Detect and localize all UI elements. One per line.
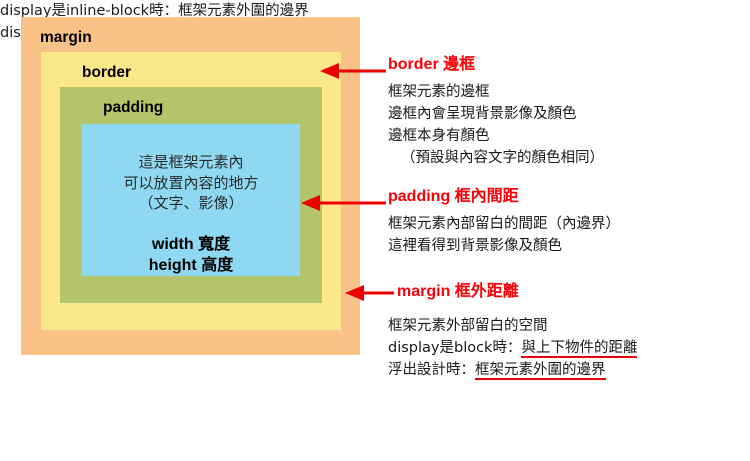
annotation-margin-line-2-underline: 與上下物件的距離 xyxy=(521,340,637,358)
annotation-border-line-4: （預設與內容文字的顏色相同） xyxy=(388,147,604,169)
annotation-margin: margin 框外距離 框架元素外部留白的空間 display是block時：與… xyxy=(397,283,637,381)
annotation-margin-line-1: 框架元素外部留白的空間 xyxy=(388,315,637,337)
annotation-border: border 邊框 框架元素的邊框 邊框內會呈現背景影像及顏色 邊框本身有顏色 … xyxy=(388,56,604,169)
content-width-label: width 寬度 xyxy=(82,234,300,255)
annotation-margin-line-2-prefix: display是block時： xyxy=(388,340,521,356)
content-layer: 這是框架元素內 可以放置內容的地方 （文字、影像） width 寬度 heigh… xyxy=(82,124,300,276)
annotation-padding-line-1: 框架元素內部留白的間距（內邊界） xyxy=(388,213,620,235)
box-model-diagram: margin border padding 這是框架元素內 可以放置內容的地方 … xyxy=(21,17,360,355)
arrow-left-icon-padding xyxy=(297,192,386,214)
border-label: border xyxy=(82,65,131,81)
arrow-left-icon-margin xyxy=(341,282,394,304)
annotation-padding-heading: padding 框內間距 xyxy=(388,188,620,206)
content-dimensions-text: width 寬度 height 高度 xyxy=(82,234,300,277)
annotation-border-line-3: 邊框本身有顏色 xyxy=(388,125,604,147)
annotation-padding-line-2: 這裡看得到背景影像及顏色 xyxy=(388,235,620,257)
annotation-border-heading: border 邊框 xyxy=(388,56,604,74)
content-line-3: （文字、影像） xyxy=(82,193,300,214)
annotation-border-line-2: 邊框內會呈現背景影像及顏色 xyxy=(388,103,604,125)
annotation-padding-body: 框架元素內部留白的間距（內邊界） 這裡看得到背景影像及顏色 xyxy=(388,213,620,257)
content-line-1: 這是框架元素內 xyxy=(82,152,300,173)
annotation-border-line-1: 框架元素的邊框 xyxy=(388,81,604,103)
annotation-border-body: 框架元素的邊框 邊框內會呈現背景影像及顏色 邊框本身有顏色 （預設與內容文字的顏… xyxy=(388,81,604,169)
content-height-label: height 高度 xyxy=(82,255,300,276)
padding-label: padding xyxy=(103,100,163,116)
annotation-margin-heading: margin 框外距離 xyxy=(397,283,637,301)
annotation-margin-line-3-prefix: 浮出設計時： xyxy=(388,362,475,378)
annotation-margin-body: 框架元素外部留白的空間 display是block時：與上下物件的距離 浮出設計… xyxy=(388,315,637,381)
content-line-2: 可以放置內容的地方 xyxy=(82,173,300,194)
arrow-left-icon-border xyxy=(316,60,386,82)
margin-label: margin xyxy=(40,30,92,46)
annotation-margin-line-3-underline: 框架元素外圍的邊界 xyxy=(475,362,606,380)
annotation-margin-line-2: display是block時：與上下物件的距離 xyxy=(388,337,637,359)
annotation-padding: padding 框內間距 框架元素內部留白的間距（內邊界） 這裡看得到背景影像及… xyxy=(388,188,620,257)
annotation-margin-line-3: 浮出設計時：框架元素外圍的邊界 xyxy=(388,359,637,381)
content-description-text: 這是框架元素內 可以放置內容的地方 （文字、影像） xyxy=(82,152,300,214)
